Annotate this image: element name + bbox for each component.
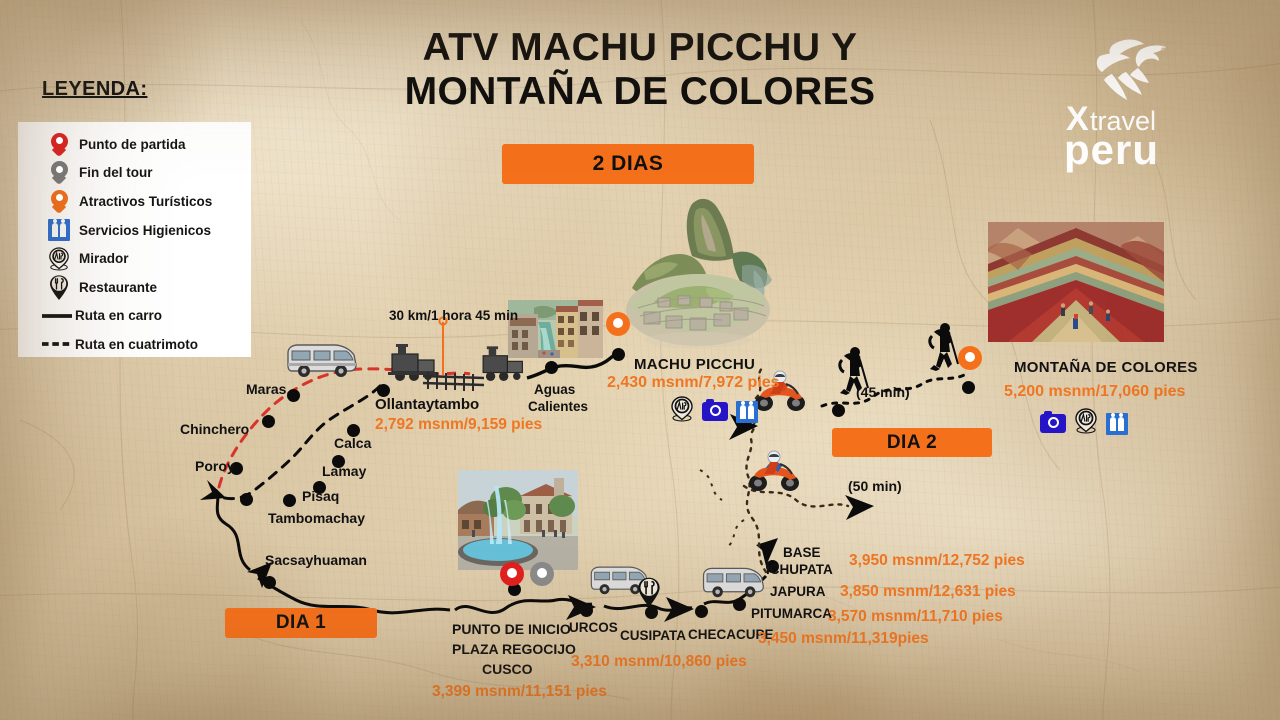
train-icon	[378, 344, 440, 386]
route-node	[263, 576, 276, 589]
label-montana-colores: MONTAÑA DE COLORES	[1014, 359, 1198, 376]
label-pisaq: Pisaq	[302, 488, 339, 504]
route-node	[733, 598, 746, 611]
elevation-checacupe: 3,450 msnm/11,319pies	[758, 630, 929, 648]
label-maras: Maras	[246, 381, 286, 397]
restroom-icon	[736, 401, 758, 423]
route-node	[262, 415, 275, 428]
label-poroy: Poroy	[195, 458, 235, 474]
map-pin-red-icon	[48, 132, 70, 156]
label-base-ichupata-2: ICHUPATA	[766, 562, 833, 577]
day-1-badge: DIA 1	[225, 608, 377, 638]
restaurant-icon	[636, 576, 662, 613]
legend-item-punto-de-partida: Punto de partida	[18, 130, 251, 159]
duration-badge: 2 DIAS	[502, 144, 754, 184]
legend-label: Fin del tour	[79, 165, 153, 180]
label-calca: Calca	[334, 435, 371, 451]
route-node	[695, 605, 708, 618]
label-pitumarca: PITUMARCA	[751, 606, 832, 621]
legend-item-ruta-en-carro: Ruta en carro	[18, 302, 251, 331]
legend-item-ruta-en-cuatrimoto: Ruta en cuatrimoto	[18, 330, 251, 359]
route-node	[283, 494, 296, 507]
legend-item-fin-del-tour: Fin del tour	[18, 159, 251, 188]
label-machu-picchu: MACHU PICCHU	[634, 356, 755, 373]
dashed-line-icon	[42, 332, 72, 356]
restaurant-icon	[48, 275, 70, 299]
van-icon	[700, 563, 766, 599]
elevation-pitumarca: 3,570 msnm/11,710 pies	[828, 608, 1003, 626]
elevation-machu-picchu: 2,430 msnm/7,972 pies	[607, 374, 780, 392]
label-urcos: URCOS	[569, 620, 618, 635]
label-punto-inicio-2: PLAZA REGOCIJO	[452, 641, 576, 657]
label-hike-45min: (45 min)	[856, 384, 910, 400]
elevation-cusco: 3,399 msnm/11,151 pies	[432, 683, 607, 701]
van-icon	[284, 339, 359, 379]
legend-label: Atractivos Turísticos	[79, 194, 212, 209]
label-chinchero: Chinchero	[180, 421, 249, 437]
machu-picchu-photo	[614, 192, 782, 350]
label-aguas-calientes-2: Calientes	[528, 399, 588, 414]
map-pin-gray-end[interactable]	[530, 562, 554, 594]
map-pin-red-start[interactable]	[500, 562, 524, 594]
legend-item-mirador: Mirador	[18, 244, 251, 273]
atv-quad-icon	[746, 448, 802, 492]
route-node	[240, 493, 253, 506]
label-punto-inicio-1: PUNTO DE INICIO	[452, 621, 571, 637]
amenities-montana-colores	[1040, 408, 1128, 439]
label-ollantaytambo: Ollantaytambo	[375, 396, 479, 413]
title-line-1: ATV MACHU PICCHU Y	[340, 26, 940, 70]
legend-label: Ruta en carro	[75, 308, 162, 323]
map-pin-gray-icon	[48, 161, 70, 185]
label-tambomachay: Tambomachay	[268, 510, 365, 526]
route-node	[580, 604, 593, 617]
elevation-ollantaytambo: 2,792 msnm/9,159 pies	[375, 416, 542, 434]
label-train-leg: 30 km/1 hora 45 min	[389, 308, 518, 323]
label-cusipata: CUSIPATA	[620, 628, 686, 643]
label-atv-50min: (50 min)	[848, 478, 902, 494]
legend-box: Punto de partida Fin del tour Atractivos…	[18, 122, 251, 357]
label-punto-inicio-3: CUSCO	[482, 661, 533, 677]
map-pin-orange-icon	[48, 189, 70, 213]
legend-title: LEYENDA:	[42, 78, 147, 101]
elevation-base-ichupata: 3,950 msnm/12,752 pies	[849, 552, 1025, 570]
rainbow-mountain-photo	[988, 222, 1164, 342]
label-aguas-calientes-1: Aguas	[534, 382, 575, 397]
label-lamay: Lamay	[322, 463, 366, 479]
logo-text-peru: peru	[1064, 126, 1159, 174]
label-sacsayhuaman: Sacsayhuaman	[265, 552, 367, 568]
hiker-icon	[926, 320, 962, 374]
cusco-plaza-photo	[458, 470, 578, 570]
route-node	[287, 389, 300, 402]
legend-item-restaurante: Restaurante	[18, 273, 251, 302]
train-icon	[470, 346, 528, 386]
camera-icon	[1040, 414, 1066, 433]
elevation-montana-colores: 5,200 msnm/17,060 pies	[1004, 383, 1185, 401]
page-title: ATV MACHU PICCHU Y MONTAÑA DE COLORES	[340, 26, 940, 115]
legend-item-atractivos-turisticos: Atractivos Turísticos	[18, 187, 251, 216]
viewpoint-icon	[670, 396, 694, 427]
viewpoint-icon	[48, 247, 70, 271]
legend-label: Mirador	[79, 251, 129, 266]
label-base-ichupata-1: BASE	[783, 545, 821, 560]
route-node	[545, 361, 558, 374]
route-node	[832, 404, 845, 417]
viewpoint-icon	[1074, 408, 1098, 439]
title-line-2: MONTAÑA DE COLORES	[340, 70, 940, 114]
label-japura: JAPURA	[770, 584, 826, 599]
day-2-badge: DIA 2	[832, 428, 992, 457]
infographic-map: ATV MACHU PICCHU Y MONTAÑA DE COLORES 2 …	[0, 0, 1280, 720]
restroom-icon	[1106, 413, 1128, 435]
solid-line-icon	[42, 304, 72, 328]
route-node	[962, 381, 975, 394]
restroom-icon	[48, 218, 70, 242]
legend-label: Punto de partida	[79, 137, 186, 152]
legend-label: Ruta en cuatrimoto	[75, 337, 198, 352]
camera-icon	[702, 402, 728, 421]
brand-logo[interactable]: X travel peru	[1054, 28, 1224, 158]
legend-label: Restaurante	[79, 280, 157, 295]
map-pin-orange-montana-colores[interactable]	[958, 346, 982, 378]
legend-label: Servicios Higienicos	[79, 223, 211, 238]
amenities-machu-picchu	[670, 396, 758, 427]
map-pin-orange-machu-picchu[interactable]	[606, 312, 630, 344]
elevation-japura: 3,850 msnm/12,631 pies	[840, 583, 1016, 601]
legend-item-servicios-higienicos: Servicios Higienicos	[18, 216, 251, 245]
elevation-cusipata-urcos: 3,310 msnm/10,860 pies	[571, 653, 747, 671]
